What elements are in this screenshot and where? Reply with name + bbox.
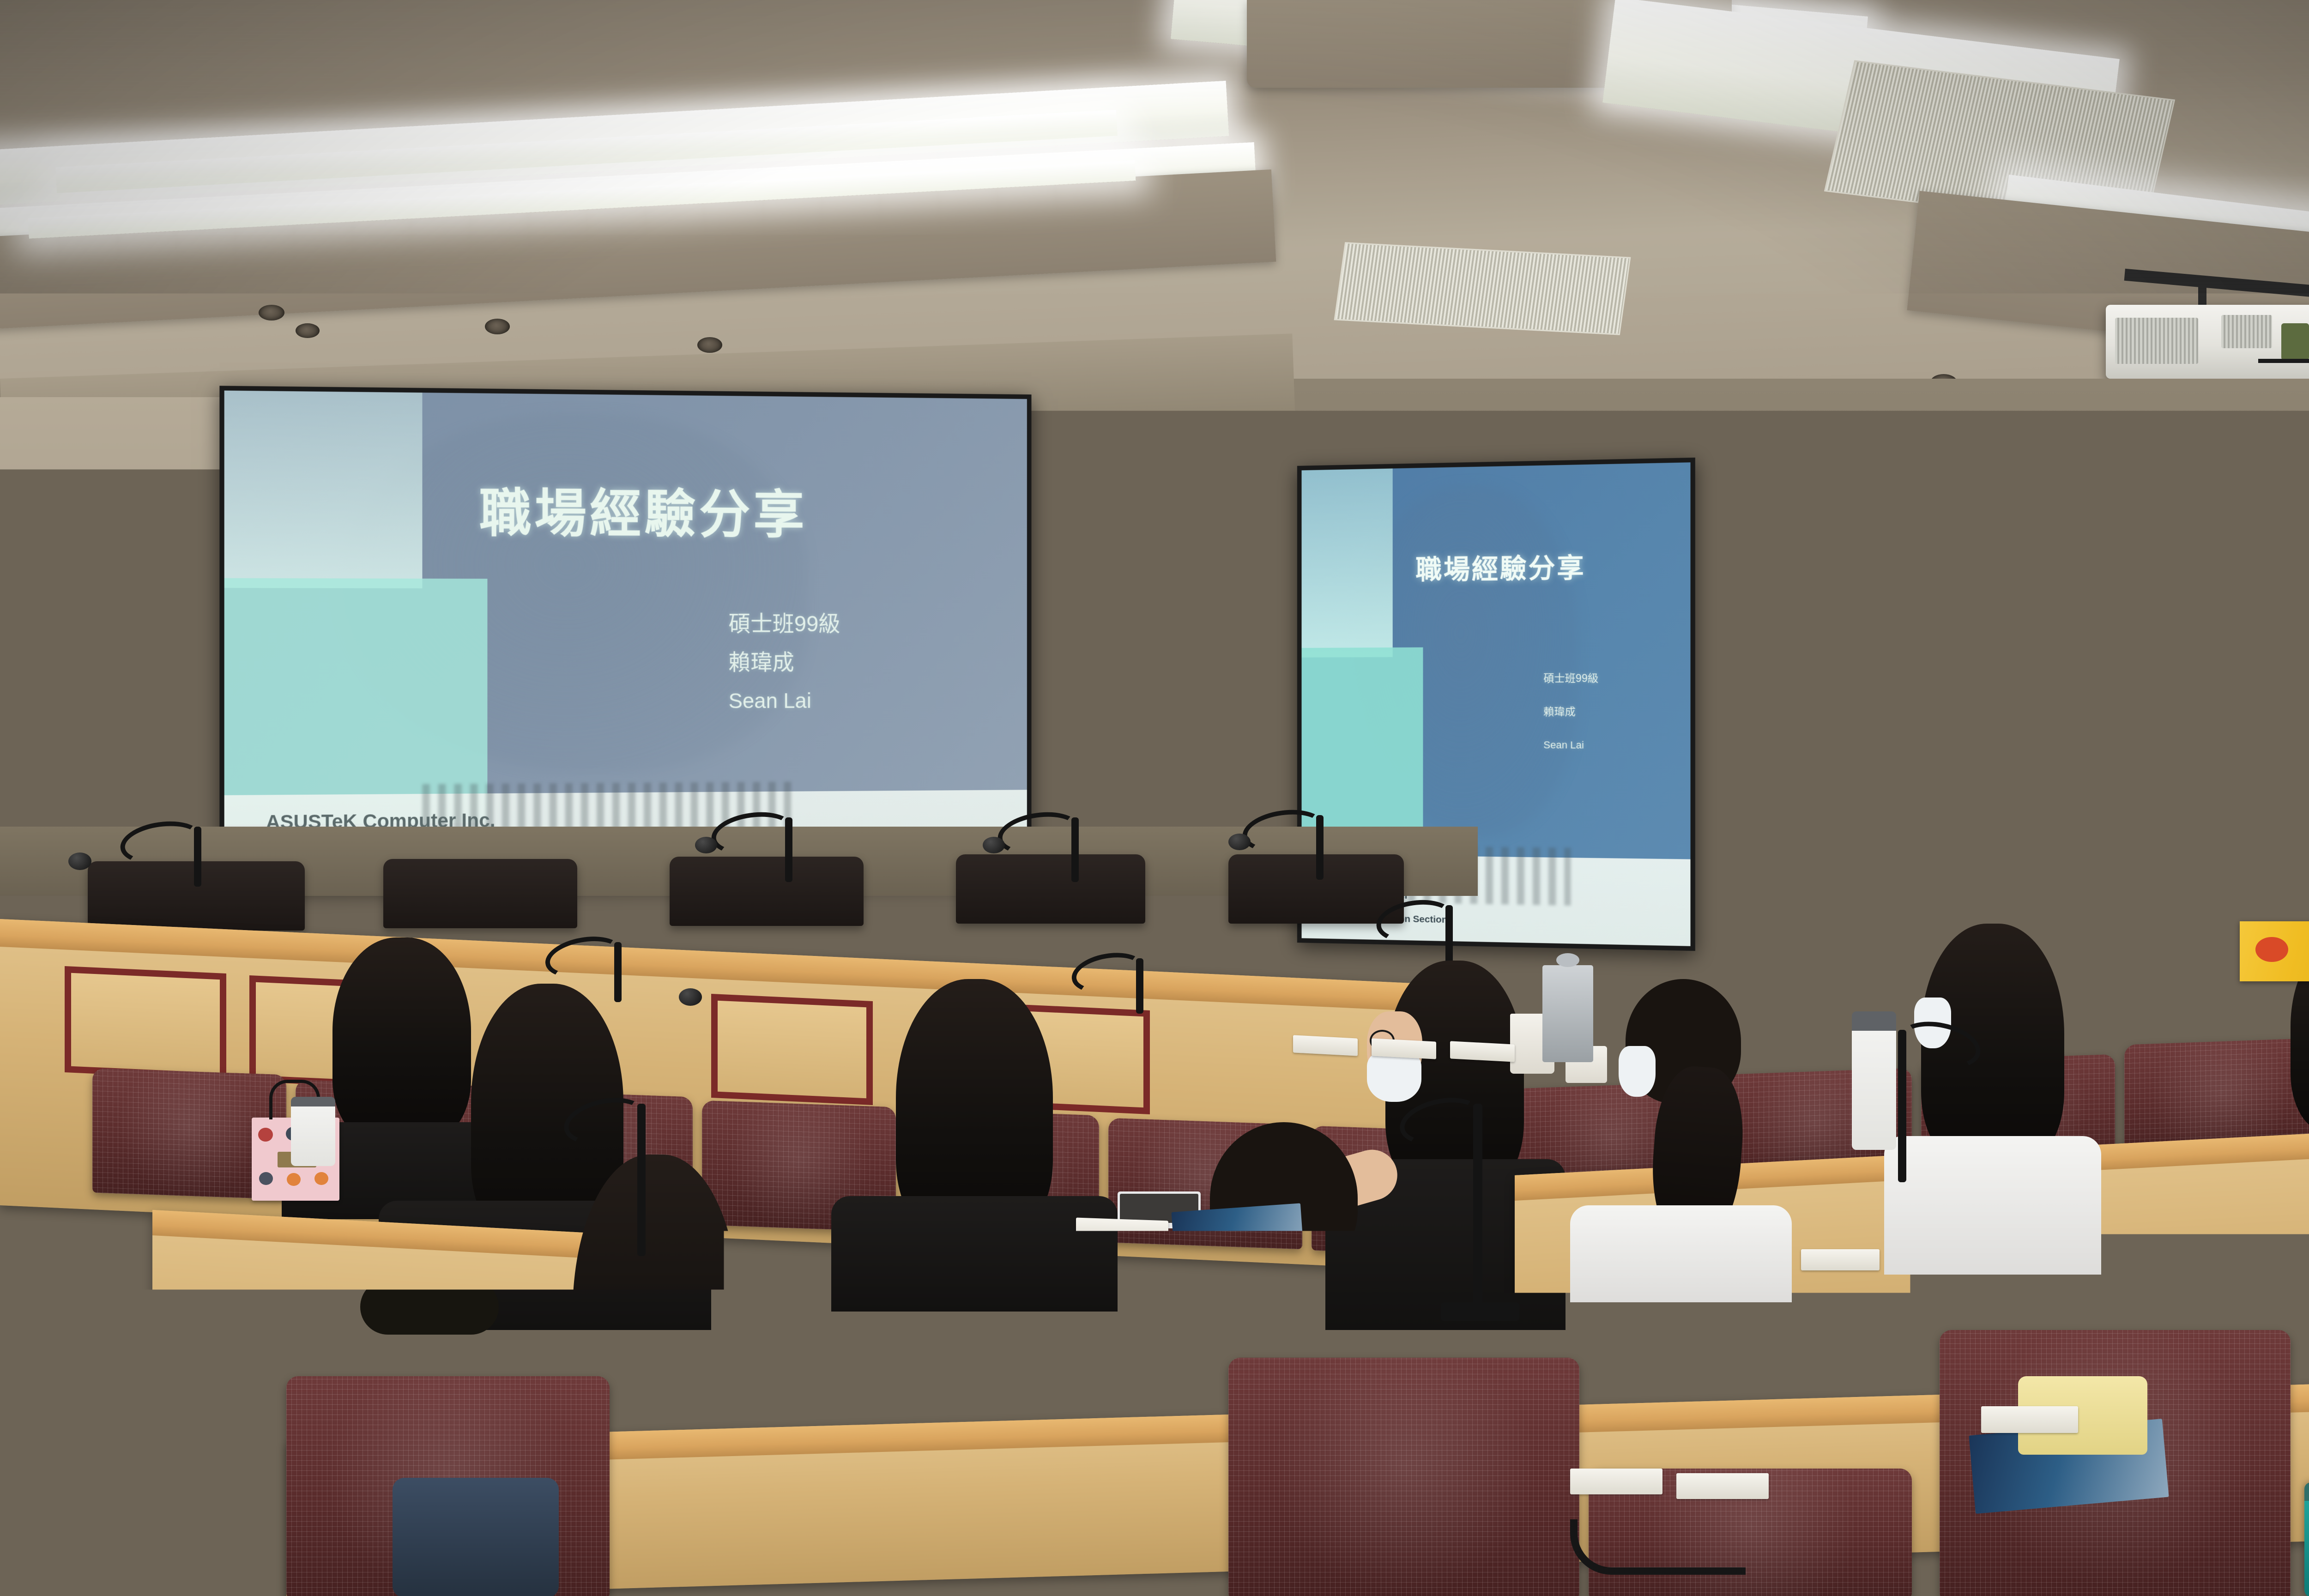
secondary-slide-subtitle-line-2: 賴瑋成: [1543, 704, 1576, 720]
foreground-cable: [1570, 1519, 1746, 1575]
stage-mic-head-2: [695, 837, 717, 853]
stage-chair-4: [956, 854, 1145, 924]
poster-line-1: [1197, 661, 1266, 665]
name-plate-8: [1801, 1249, 1880, 1270]
yellow-display-box: [2240, 921, 2309, 981]
name-plate-3: [1450, 1041, 1515, 1062]
ceiling-air-vent-2: [1334, 242, 1631, 335]
student-torso: [1570, 1205, 1792, 1302]
slide-subtitle-line-1: 碩士班99級: [729, 608, 840, 640]
scales-of-justice-icon: ⚖: [1201, 696, 1233, 725]
main-projection-screen: 職場經驗分享 碩士班99級 賴瑋成 Sean Lai ASUSTeK Compu…: [219, 386, 1031, 889]
poster-line-3: [1237, 710, 1269, 714]
wall-poster: ⚖ 🔧: [1187, 653, 1275, 769]
poster-line-2: [1237, 701, 1269, 706]
face-mask: [1619, 1046, 1656, 1097]
teal-accent-block-6: [2138, 905, 2254, 961]
stage-mic-head-3: [983, 837, 1005, 853]
stage-chair-3: [670, 857, 864, 926]
handheld-microphone: [1892, 748, 1912, 822]
name-plate-1: [1293, 1035, 1358, 1056]
ceiling-downlight-1: [259, 305, 284, 320]
presenter-cuff: [1905, 812, 1928, 824]
slide-subtitle-line-2: 賴瑋成: [729, 647, 794, 679]
poster-line-5: [1197, 736, 1229, 740]
tools-icon: 🔧: [1239, 722, 1266, 748]
presenter-lapel-pin: [1928, 781, 1940, 792]
poster-line-4: [1197, 728, 1234, 732]
secondary-slide-subtitle-line-1: 碩士班99級: [1543, 671, 1598, 686]
front-mic-stem-3[interactable]: [1898, 1030, 1906, 1182]
name-plate-6: [1676, 1473, 1769, 1499]
water-bottle-white[interactable]: [1852, 1011, 1896, 1150]
secondary-slide-subtitle-line-3: Sean Lai: [1543, 738, 1584, 752]
louver-panel-right: [2254, 522, 2309, 984]
name-plate-5: [1570, 1469, 1662, 1494]
front-mic-stem-2[interactable]: [1473, 1104, 1482, 1307]
clicker-remote: [1762, 840, 1783, 853]
student-torso: [1884, 1136, 2101, 1275]
poster-heading-2: [1197, 681, 1266, 690]
student-right-2: [1870, 924, 2110, 1275]
magazine[interactable]: [1172, 1203, 1304, 1263]
ceiling-downlight-2: [296, 323, 320, 338]
main-slide: 職場經驗分享 碩士班99級 賴瑋成 Sean Lai ASUSTeK Compu…: [224, 391, 1027, 884]
poster-qr-block: [1195, 746, 1214, 764]
french-press[interactable]: [1542, 965, 1593, 1062]
name-plate-2: [1372, 1038, 1436, 1059]
slide-subtitle-line-3: Sean Lai: [729, 685, 811, 716]
front-mic-base-2: [1441, 1302, 1519, 1321]
chair-front-2: [1228, 1358, 1579, 1596]
secondary-slide-title: 職場經驗分享: [1415, 546, 1585, 586]
ceiling-downlight-4: [697, 337, 722, 353]
student-right-1: [1561, 979, 1801, 1302]
ceiling-projector-mount: [2106, 277, 2309, 383]
stage-mic-head-1: [68, 852, 91, 870]
face-mask: [1367, 1051, 1421, 1102]
teal-accent-block-5: [2138, 683, 2254, 739]
lecture-hall-photo: ⚖ 🔧 職場經驗分享 碩士班99級 賴瑋成 Sean La: [0, 0, 2309, 1596]
stage-chair-2: [383, 859, 577, 928]
stage-mic-head-4: [1228, 834, 1251, 850]
water-bottle-teal[interactable]: [2304, 1482, 2309, 1596]
poster-heading-1: [1197, 669, 1266, 678]
name-plate-4: [1076, 1218, 1168, 1244]
desk-panel-1: [65, 966, 226, 1080]
water-bottle-dark-cap[interactable]: [291, 1097, 335, 1166]
clock: [2032, 432, 2129, 547]
poster-footer-line: [1239, 751, 1268, 755]
floor-bag: [393, 1478, 559, 1596]
ceiling-downlight-3: [485, 319, 510, 334]
slide-title: 職場經驗分享: [479, 472, 808, 548]
name-plate-7: [1981, 1406, 2078, 1433]
